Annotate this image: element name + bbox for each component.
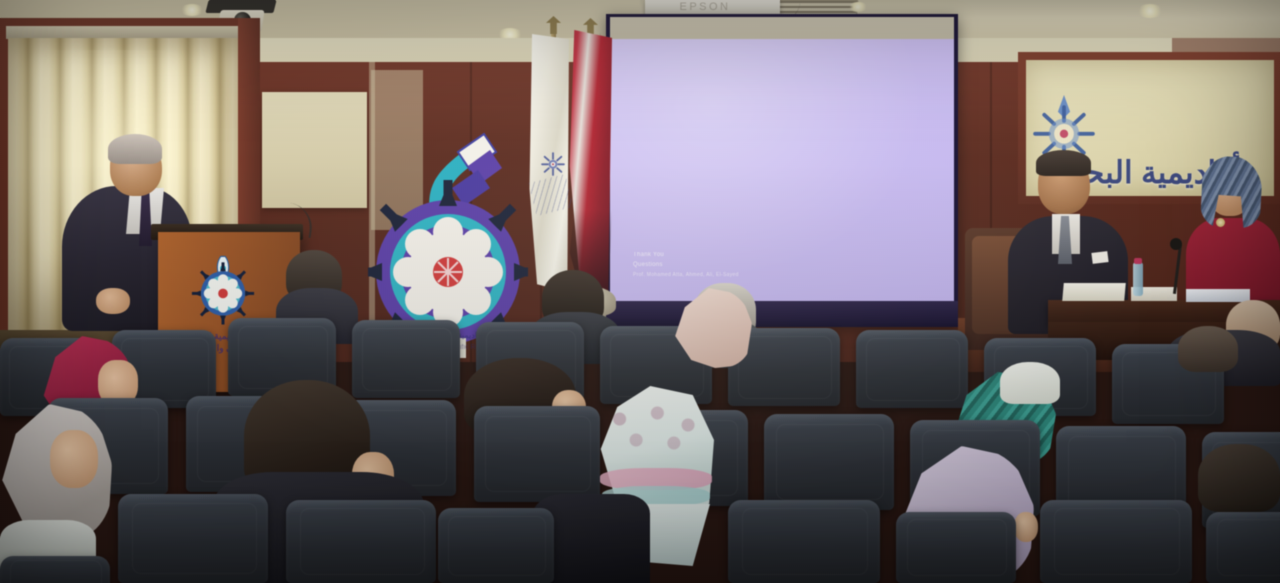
podium-speaker-hair — [108, 134, 162, 164]
ceiling-light — [1137, 4, 1163, 18]
seat[interactable] — [352, 320, 460, 398]
projection-screen-top-strip — [610, 17, 954, 39]
ceiling-light — [180, 4, 204, 16]
seat[interactable] — [1040, 500, 1192, 583]
projection-screen-bottom-bar — [606, 301, 958, 327]
speaker-hand — [96, 288, 130, 314]
seat[interactable] — [286, 500, 436, 583]
slide-line-3: Prof. Mohamed Atta, Ahmed, Ali, El-Sayed — [633, 270, 863, 280]
panelist-man-pocket-square — [1091, 251, 1108, 264]
seat[interactable] — [856, 330, 968, 408]
panelist-man-hair — [1036, 150, 1091, 176]
podium-logo-icon — [186, 252, 260, 326]
slide-line-1: Thank You — [633, 250, 863, 260]
table-microphone-icon — [1170, 238, 1182, 250]
seat[interactable] — [0, 556, 110, 583]
audience-woman-teal-hijab-crown — [1000, 362, 1060, 404]
wall-beige-panel — [262, 92, 367, 208]
panelist-woman-brooch — [1216, 218, 1225, 227]
name-card — [1062, 283, 1126, 301]
slide-text-block: Thank You Questions Prof. Mohamed Atta, … — [633, 250, 863, 292]
document-on-table — [1186, 289, 1250, 302]
seat[interactable] — [438, 508, 554, 583]
slide-line-2: Questions — [633, 260, 863, 270]
conference-hall-photo: EPSON Thank You Questions Prof. Mohamed … — [0, 0, 1280, 583]
bottle-cap-icon — [1134, 258, 1142, 264]
seat[interactable] — [118, 494, 268, 583]
audience-woman-lavender-face — [1014, 512, 1038, 542]
ceiling-light — [848, 2, 868, 12]
audience-man-right-edge — [1198, 444, 1280, 512]
institution-flag-emblem-icon — [540, 150, 566, 176]
water-bottle-icon — [1133, 262, 1143, 296]
projector-brand-label: EPSON — [660, 1, 750, 14]
seat[interactable] — [474, 406, 600, 502]
audience-man-right-suit — [1178, 326, 1238, 372]
seat[interactable] — [896, 512, 1016, 583]
seat[interactable] — [1206, 512, 1280, 583]
seat[interactable] — [764, 414, 894, 510]
audience-woman-grey-face — [50, 430, 98, 488]
seat[interactable] — [728, 500, 880, 583]
